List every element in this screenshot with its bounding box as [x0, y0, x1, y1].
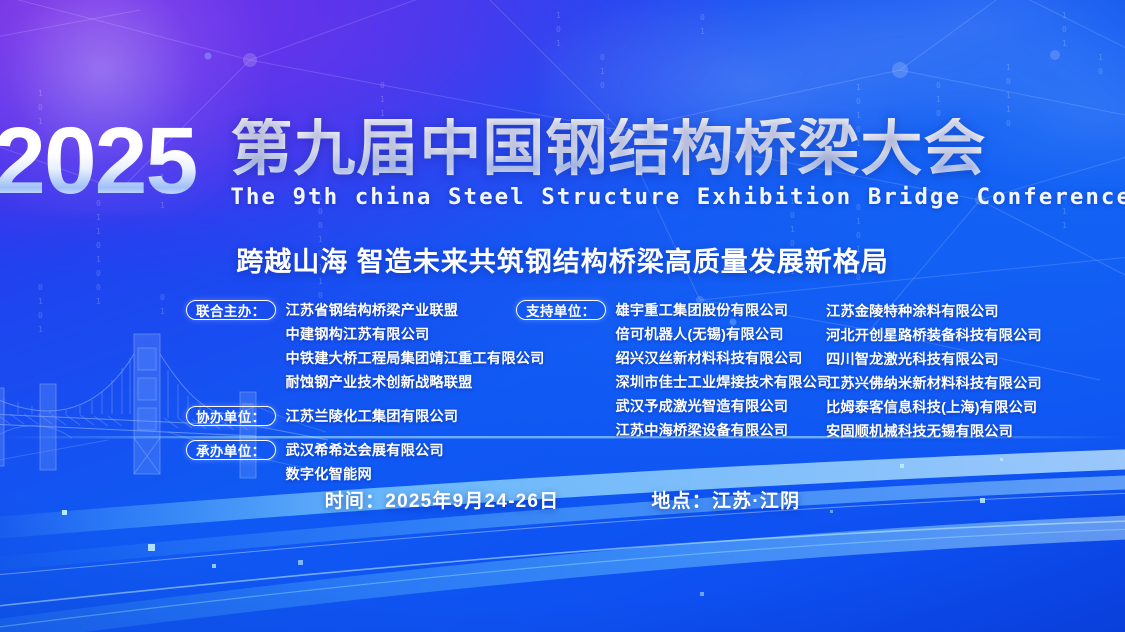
- list-item: 江苏兴佛纳米新材料科技有限公司: [826, 372, 1106, 396]
- list-item: 耐蚀钢产业技术创新战略联盟: [286, 371, 545, 395]
- list-item: 武汉希希达会展有限公司: [286, 439, 444, 463]
- undertaker-group: 承办单位： 武汉希希达会展有限公司 数字化智能网: [186, 439, 516, 487]
- conference-slogan: 跨越山海 智造未来共筑钢结构桥梁高质量发展新格局: [0, 240, 1125, 279]
- supporters-column-middle: 支持单位： 雄宇重工集团股份有限公司 倍可机器人(无锡)有限公司 绍兴汉丝新材料…: [516, 299, 816, 443]
- banner-content: 2025 第九届中国钢结构桥梁大会 The 9th china Steel St…: [0, 0, 1125, 632]
- list-item: 中铁建大桥工程局集团靖江重工有限公司: [286, 347, 545, 371]
- co-organizer-list: 江苏兰陵化工集团有限公司: [286, 405, 459, 429]
- supporters-label: 支持单位：: [516, 300, 606, 320]
- event-details: 时间：2025年9月24-26日 地点：江苏·江阴: [0, 486, 1125, 513]
- organizations-block: 联合主办： 江苏省钢结构桥梁产业联盟 中建钢构江苏有限公司 中铁建大桥工程局集团…: [186, 299, 1106, 487]
- list-item: 倍可机器人(无锡)有限公司: [616, 323, 832, 347]
- conference-title-cn: 第九届中国钢结构桥梁大会: [230, 118, 1125, 180]
- list-item: 雄宇重工集团股份有限公司: [616, 299, 832, 323]
- list-item: 中建钢构江苏有限公司: [286, 323, 545, 347]
- headline-block: 2025 第九届中国钢结构桥梁大会 The 9th china Steel St…: [0, 118, 1125, 210]
- year-label: 2025: [0, 118, 212, 205]
- undertaker-list: 武汉希希达会展有限公司 数字化智能网: [286, 439, 444, 487]
- conference-banner: 101 0101 0110 1001 101 01 100 101 100 01…: [0, 0, 1125, 632]
- co-organizer-label: 协办单位：: [186, 406, 276, 426]
- list-item: 江苏中海桥梁设备有限公司: [616, 419, 832, 443]
- conference-title-en: The 9th china Steel Structure Exhibition…: [230, 184, 1125, 210]
- supporters-group: 支持单位： 雄宇重工集团股份有限公司 倍可机器人(无锡)有限公司 绍兴汉丝新材料…: [516, 299, 816, 443]
- joint-hosts-group: 联合主办： 江苏省钢结构桥梁产业联盟 中建钢构江苏有限公司 中铁建大桥工程局集团…: [186, 299, 516, 395]
- list-item: 河北开创星路桥装备科技有限公司: [826, 324, 1106, 348]
- event-location: 地点：江苏·江阴: [651, 486, 800, 513]
- supporters-list: 雄宇重工集团股份有限公司 倍可机器人(无锡)有限公司 绍兴汉丝新材料科技有限公司…: [616, 299, 832, 443]
- list-item: 比姆泰客信息科技(上海)有限公司: [826, 396, 1106, 420]
- joint-hosts-label: 联合主办：: [186, 300, 276, 320]
- organizers-column-left: 联合主办： 江苏省钢结构桥梁产业联盟 中建钢构江苏有限公司 中铁建大桥工程局集团…: [186, 299, 516, 487]
- list-item: 深圳市佳士工业焊接技术有限公司: [616, 371, 832, 395]
- co-organizer-group: 协办单位： 江苏兰陵化工集团有限公司: [186, 405, 516, 429]
- list-item: 绍兴汉丝新材料科技有限公司: [616, 347, 832, 371]
- joint-hosts-list: 江苏省钢结构桥梁产业联盟 中建钢构江苏有限公司 中铁建大桥工程局集团靖江重工有限…: [286, 299, 545, 395]
- title-stack: 第九届中国钢结构桥梁大会 The 9th china Steel Structu…: [212, 118, 1125, 210]
- list-item: 武汉予成激光智造有限公司: [616, 395, 832, 419]
- list-item: 江苏金陵特种涂料有限公司: [826, 300, 1106, 324]
- list-item: 江苏省钢结构桥梁产业联盟: [286, 299, 545, 323]
- supporters-extra-list: 江苏金陵特种涂料有限公司 河北开创星路桥装备科技有限公司 四川智龙激光科技有限公…: [826, 300, 1106, 444]
- supporters-column-right: 江苏金陵特种涂料有限公司 河北开创星路桥装备科技有限公司 四川智龙激光科技有限公…: [816, 299, 1106, 444]
- undertaker-label: 承办单位：: [186, 440, 276, 460]
- event-date: 时间：2025年9月24-26日: [325, 486, 560, 513]
- list-item: 安固顺机械科技无锡有限公司: [826, 420, 1106, 444]
- list-item: 数字化智能网: [286, 463, 444, 487]
- list-item: 四川智龙激光科技有限公司: [826, 348, 1106, 372]
- list-item: 江苏兰陵化工集团有限公司: [286, 405, 459, 429]
